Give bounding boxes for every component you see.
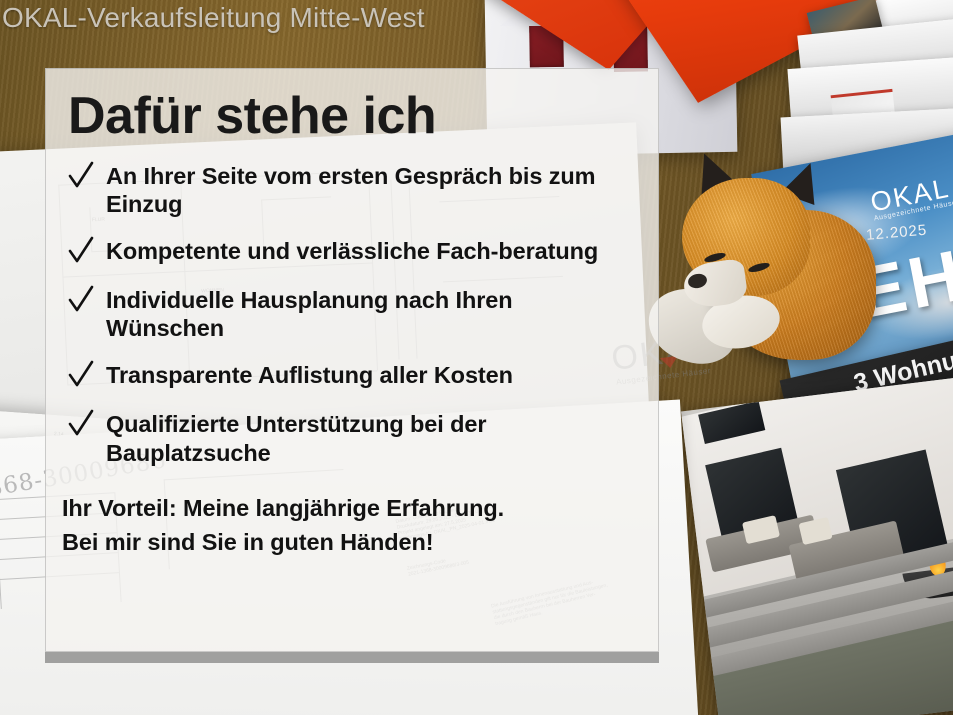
check-mark-icon <box>68 285 94 315</box>
list-item: Qualifizierte Unterstützung bei der Baup… <box>68 410 658 466</box>
check-mark-icon <box>68 409 94 439</box>
fox-head <box>682 178 810 296</box>
header-label: OKAL-Verkaufsleitung Mitte-West <box>2 2 425 34</box>
page-title: Dafür stehe ich <box>68 89 658 144</box>
screenshot-stage: OKAL Ausgezeichnete Häuser 15.03. – 31.1… <box>0 0 953 715</box>
list-item: Transparente Auflistung aller Kosten <box>68 361 658 391</box>
list-item-label: Kompetente und verlässliche Fach-beratun… <box>106 237 598 265</box>
list-item: An Ihrer Seite vom ersten Gespräch bis z… <box>68 162 658 218</box>
content-panel-shadow <box>45 652 659 663</box>
terrace-photo <box>681 375 953 715</box>
list-item: Individuelle Hausplanung nach Ihren Wüns… <box>68 286 658 342</box>
closing-statement: Ihr Vorteil: Meine langjährige Erfahrung… <box>62 491 658 559</box>
list-item-label: Individuelle Hausplanung nach Ihren Wüns… <box>106 286 614 342</box>
list-item-label: Qualifizierte Unterstützung bei der Baup… <box>106 410 614 466</box>
list-item-label: An Ihrer Seite vom ersten Gespräch bis z… <box>106 162 614 218</box>
check-mark-icon <box>68 360 94 390</box>
fox-eye-right <box>747 261 770 274</box>
list-item-label: Transparente Auflistung aller Kosten <box>106 361 513 389</box>
closing-line-1: Ihr Vorteil: Meine langjährige Erfahrung… <box>62 491 658 525</box>
closing-line-2: Bei mir sind Sie in guten Händen! <box>62 525 658 559</box>
benefits-list: An Ihrer Seite vom ersten Gespräch bis z… <box>68 162 658 467</box>
check-mark-icon <box>68 161 94 191</box>
check-mark-icon <box>68 236 94 266</box>
fox-figurine <box>676 150 876 365</box>
list-item: Kompetente und verlässliche Fach-beratun… <box>68 237 658 267</box>
content-panel: Dafür stehe ich An Ihrer Seite vom erste… <box>45 68 659 652</box>
